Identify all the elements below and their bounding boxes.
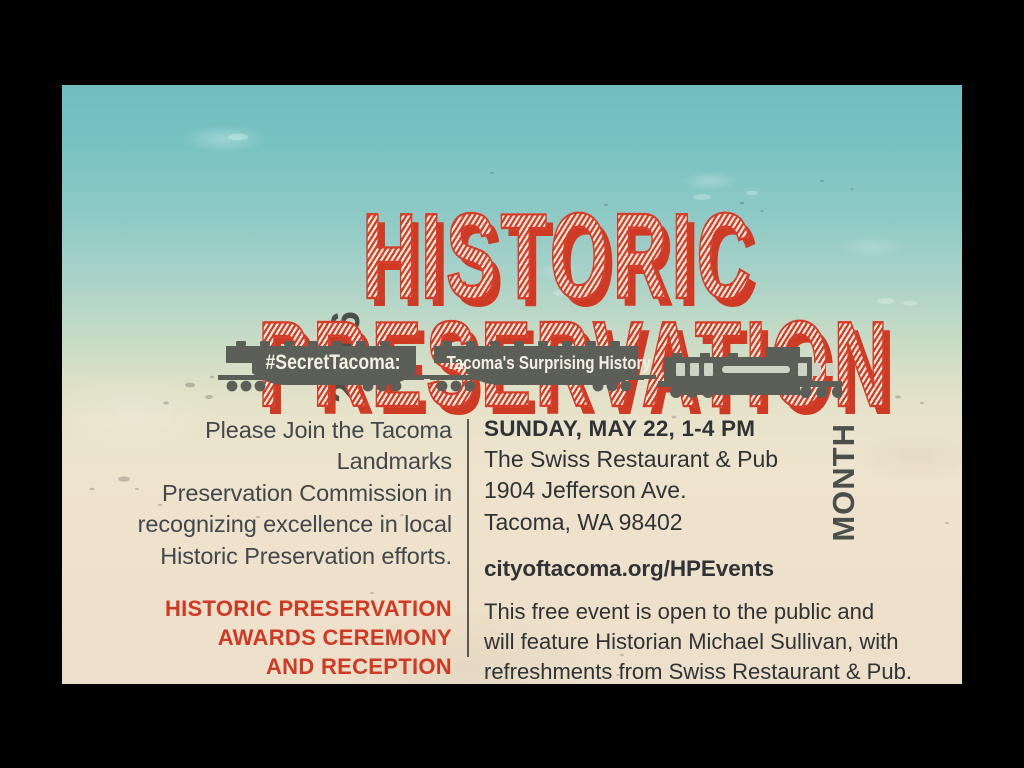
right-column: SUNDAY, MAY 22, 1-4 PM The Swiss Restaur… <box>484 415 934 684</box>
train-locomotive <box>658 347 842 398</box>
poster: 2016 HISTORIC HISTORIC PRESERVATION PRES… <box>62 85 962 684</box>
event-address: The Swiss Restaurant & Pub 1904 Jefferso… <box>484 444 934 538</box>
awards-line-3: AND RECEPTION <box>102 652 452 681</box>
invitation-line-4: Historic Preservation efforts. <box>102 541 452 572</box>
invitation-line-1: Please Join the Tacoma Landmarks <box>102 415 452 478</box>
invitation-line-3: recognizing excellence in local <box>102 509 452 540</box>
awards-line-1: HISTORIC PRESERVATION <box>102 594 452 623</box>
event-url[interactable]: cityoftacoma.org/HPEvents <box>484 556 934 582</box>
invitation-text: Please Join the Tacoma Landmarks Preserv… <box>102 415 452 572</box>
event-note-line-2: will feature Historian Michael Sullivan,… <box>484 627 934 657</box>
train-illustration: #SecretTacoma: Tacoma's Surprising Histo… <box>202 335 842 405</box>
title-block: 2016 HISTORIC HISTORIC PRESERVATION PRES… <box>62 85 962 355</box>
year-label: 2016 <box>324 210 354 310</box>
event-note: This free event is open to the public an… <box>484 597 934 684</box>
left-column: Please Join the Tacoma Landmarks Preserv… <box>102 415 452 682</box>
venue-street: 1904 Jefferson Ave. <box>484 475 934 506</box>
venue-city-state-zip: Tacoma, WA 98402 <box>484 507 934 538</box>
awards-line-2: AWARDS CEREMONY <box>102 623 452 652</box>
train-car-1-label: #SecretTacoma: <box>255 351 411 375</box>
awards-heading: HISTORIC PRESERVATION AWARDS CEREMONY AN… <box>102 594 452 681</box>
event-note-line-1: This free event is open to the public an… <box>484 597 934 627</box>
column-divider <box>467 419 469 657</box>
invitation-line-2: Preservation Commission in <box>102 478 452 509</box>
event-date-time: SUNDAY, MAY 22, 1-4 PM <box>484 415 934 442</box>
venue-name: The Swiss Restaurant & Pub <box>484 444 934 475</box>
event-note-line-3: refreshments from Swiss Restaurant & Pub… <box>484 657 934 684</box>
train-car-2-label: Tacoma's Surprising History <box>447 353 622 374</box>
